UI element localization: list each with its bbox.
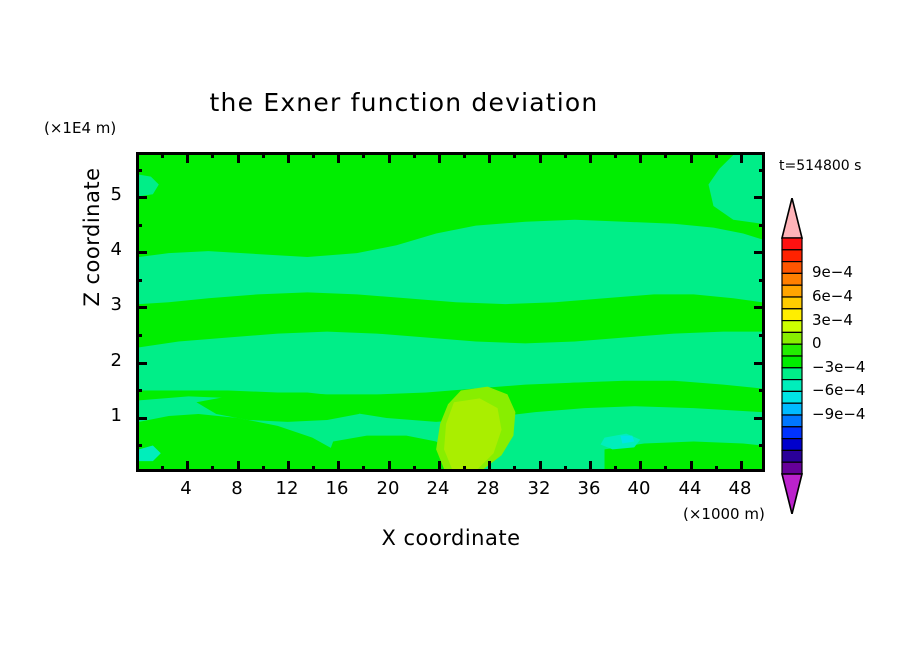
x-tick-top: [589, 152, 592, 163]
colorbar-tick-label: 9e−4: [812, 263, 853, 281]
x-tick-label: 12: [267, 478, 307, 499]
x-tick-top: [690, 152, 693, 163]
x-tick-bottom: [589, 461, 592, 472]
time-annotation: t=514800 s: [779, 158, 861, 174]
colorbar-tick-label: −3e−4: [812, 358, 865, 376]
x-tick-bottom: [438, 461, 441, 472]
colorbar-swatches: [779, 198, 805, 514]
x-tick-bottom: [539, 461, 542, 472]
x-tick-top: [539, 152, 542, 163]
y-tick-minor: [759, 444, 765, 447]
x-tick-minor: [513, 466, 516, 472]
colorbar-tick-label: 0: [812, 334, 822, 352]
y-tick-left: [136, 362, 147, 365]
colorbar-band[interactable]: [782, 450, 802, 462]
x-tick-top: [388, 152, 391, 163]
y-tick-right: [754, 417, 765, 420]
y-tick-right: [754, 251, 765, 254]
colorbar-band[interactable]: [782, 309, 802, 321]
colorbar-band[interactable]: [782, 238, 802, 250]
colorbar-band[interactable]: [782, 439, 802, 451]
x-tick-label: 40: [619, 478, 659, 499]
y-tick-minor: [759, 279, 765, 282]
x-tick-minor: [564, 466, 567, 472]
x-tick-bottom: [237, 461, 240, 472]
colorbar-band[interactable]: [782, 297, 802, 309]
y-tick-left: [136, 251, 147, 254]
x-tick-minor: [262, 152, 265, 158]
y-tick-label: 4: [96, 239, 122, 260]
x-tick-bottom: [287, 461, 290, 472]
x-tick-minor: [362, 152, 365, 158]
x-tick-minor: [211, 152, 214, 158]
colorbar-band[interactable]: [782, 344, 802, 356]
x-tick-top: [639, 152, 642, 163]
y-tick-minor: [136, 444, 142, 447]
x-tick-minor: [513, 152, 516, 158]
x-tick-top: [186, 152, 189, 163]
y-tick-minor: [759, 169, 765, 172]
x-tick-label: 24: [418, 478, 458, 499]
colorbar-under-arrow: [782, 474, 802, 514]
contour-field: [139, 155, 762, 469]
colorbar-band[interactable]: [782, 262, 802, 274]
x-tick-bottom: [337, 461, 340, 472]
y-axis-unit-label: (×1E4 m): [44, 119, 116, 137]
x-tick-top: [237, 152, 240, 163]
x-tick-bottom: [639, 461, 642, 472]
colorbar-tick-label: 6e−4: [812, 287, 853, 305]
colorbar[interactable]: [779, 198, 805, 514]
colorbar-band[interactable]: [782, 356, 802, 368]
colorbar-band[interactable]: [782, 391, 802, 403]
colorbar-band[interactable]: [782, 427, 802, 439]
x-tick-bottom: [740, 461, 743, 472]
x-tick-bottom: [186, 461, 189, 472]
x-tick-minor: [664, 466, 667, 472]
colorbar-tick-label: −9e−4: [812, 405, 865, 423]
y-tick-minor: [136, 224, 142, 227]
colorbar-band[interactable]: [782, 321, 802, 333]
x-tick-minor: [564, 152, 567, 158]
x-tick-minor: [614, 466, 617, 472]
x-tick-label: 28: [468, 478, 508, 499]
y-tick-right: [754, 196, 765, 199]
x-tick-bottom: [488, 461, 491, 472]
y-tick-left: [136, 417, 147, 420]
x-tick-minor: [161, 152, 164, 158]
colorbar-band[interactable]: [782, 462, 802, 474]
y-tick-minor: [136, 334, 142, 337]
contour-plot-area: [136, 152, 765, 472]
x-tick-minor: [312, 466, 315, 472]
y-tick-label: 2: [96, 350, 122, 371]
x-tick-minor: [715, 466, 718, 472]
x-tick-label: 48: [720, 478, 760, 499]
colorbar-band[interactable]: [782, 380, 802, 392]
x-tick-minor: [161, 466, 164, 472]
x-tick-label: 16: [317, 478, 357, 499]
x-axis-title: X coordinate: [136, 526, 766, 550]
colorbar-band[interactable]: [782, 332, 802, 344]
y-tick-minor: [759, 389, 765, 392]
colorbar-band[interactable]: [782, 368, 802, 380]
x-tick-minor: [614, 152, 617, 158]
x-tick-top: [740, 152, 743, 163]
colorbar-tick-label: 3e−4: [812, 311, 853, 329]
x-tick-bottom: [388, 461, 391, 472]
colorbar-over-arrow: [782, 198, 802, 238]
x-tick-top: [488, 152, 491, 163]
x-tick-minor: [413, 152, 416, 158]
y-tick-minor: [759, 224, 765, 227]
y-tick-minor: [136, 279, 142, 282]
colorbar-band[interactable]: [782, 285, 802, 297]
colorbar-band[interactable]: [782, 273, 802, 285]
x-tick-minor: [463, 466, 466, 472]
x-tick-label: 8: [217, 478, 257, 499]
x-tick-label: 44: [670, 478, 710, 499]
x-tick-label: 32: [519, 478, 559, 499]
x-tick-label: 36: [569, 478, 609, 499]
x-tick-minor: [262, 466, 265, 472]
x-tick-bottom: [690, 461, 693, 472]
x-tick-minor: [463, 152, 466, 158]
x-tick-minor: [715, 152, 718, 158]
colorbar-tick-label: −6e−4: [812, 381, 865, 399]
y-tick-label: 5: [96, 184, 122, 205]
y-tick-minor: [759, 334, 765, 337]
x-tick-minor: [413, 466, 416, 472]
x-tick-minor: [362, 466, 365, 472]
y-tick-left: [136, 196, 147, 199]
y-tick-left: [136, 306, 147, 309]
colorbar-band[interactable]: [782, 403, 802, 415]
colorbar-band[interactable]: [782, 415, 802, 427]
x-tick-minor: [664, 152, 667, 158]
y-tick-minor: [136, 169, 142, 172]
y-tick-label: 1: [96, 405, 122, 426]
colorbar-band[interactable]: [782, 250, 802, 262]
y-tick-right: [754, 362, 765, 365]
y-tick-minor: [136, 389, 142, 392]
x-tick-top: [438, 152, 441, 163]
x-tick-top: [287, 152, 290, 163]
x-tick-top: [337, 152, 340, 163]
x-tick-minor: [312, 152, 315, 158]
page-title: the Exner function deviation: [0, 88, 904, 117]
page-title-text: the Exner function deviation: [210, 88, 599, 117]
x-tick-label: 20: [368, 478, 408, 499]
x-tick-minor: [211, 466, 214, 472]
x-tick-label: 4: [166, 478, 206, 499]
y-tick-right: [754, 306, 765, 309]
x-axis-unit-label: (×1000 m): [683, 505, 765, 523]
y-tick-label: 3: [96, 294, 122, 315]
